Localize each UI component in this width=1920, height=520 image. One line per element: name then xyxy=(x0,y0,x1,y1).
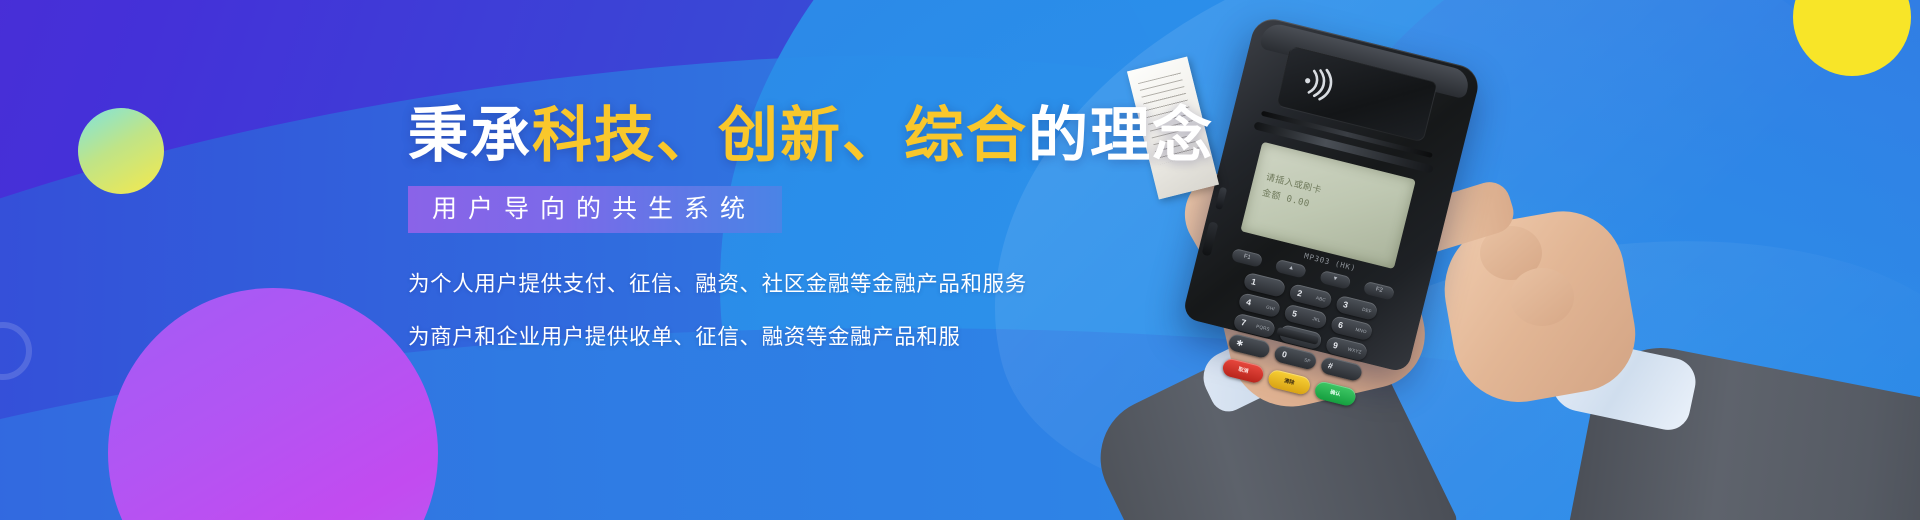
hero-banner: 秉承科技、创新、综合的理念 用户导向的共生系统 为个人用户提供支付、征信、融资、… xyxy=(0,0,1920,520)
pos-key-digit: 9 xyxy=(1332,340,1339,351)
pos-key-digit: 1 xyxy=(1250,276,1257,287)
banner-headline: 秉承科技、创新、综合的理念 xyxy=(408,104,1248,168)
headline-segment-1: 秉承 xyxy=(408,102,532,169)
headline-segment-2-highlight: 科技、创新、综合 xyxy=(532,102,1028,169)
ring-faint-left-icon xyxy=(0,322,32,380)
circle-cyan-yellow-gradient-icon xyxy=(78,108,164,194)
banner-subtitle-band: 用户导向的共生系统 xyxy=(408,186,782,233)
circle-magenta-large-icon xyxy=(108,288,438,520)
knuckle-lower xyxy=(1510,268,1574,326)
pos-key-letters: JKL xyxy=(1312,316,1321,323)
pos-key-digit: 0 xyxy=(1281,349,1288,360)
pos-key-letters: ABC xyxy=(1315,295,1326,302)
pos-key-digit: 3 xyxy=(1342,299,1349,310)
pos-key-letters: SP xyxy=(1304,357,1312,363)
banner-body-line-1: 为个人用户提供支付、征信、融资、社区金融等金融产品和服务 xyxy=(408,267,1248,298)
headline-segment-3: 的理念 xyxy=(1028,102,1214,169)
pos-key-letters: PQRS xyxy=(1256,324,1271,332)
pos-key-digit: # xyxy=(1327,360,1334,371)
pos-key-digit: 2 xyxy=(1296,288,1303,299)
pos-key-letters: GHI xyxy=(1266,305,1276,312)
pos-key-letters: DEF xyxy=(1362,307,1373,314)
banner-subtitle-wrap: 用户导向的共生系统 xyxy=(408,186,782,233)
pos-key-digit: 5 xyxy=(1291,308,1298,319)
pos-terminal-scene: 请插入或刷卡 金额 0.00 MP303 (HK) F1▲▼F2 12ABC3D… xyxy=(1180,0,1920,520)
pos-key-digit: 6 xyxy=(1337,320,1344,331)
banner-copy-block: 秉承科技、创新、综合的理念 用户导向的共生系统 为个人用户提供支付、征信、融资、… xyxy=(408,104,1248,351)
banner-body-line-2: 为商户和企业用户提供收单、征信、融资等金融产品和服 xyxy=(408,320,1248,351)
pos-key-letters: WXYZ xyxy=(1347,347,1362,355)
pos-key-letters: MNO xyxy=(1355,327,1367,335)
